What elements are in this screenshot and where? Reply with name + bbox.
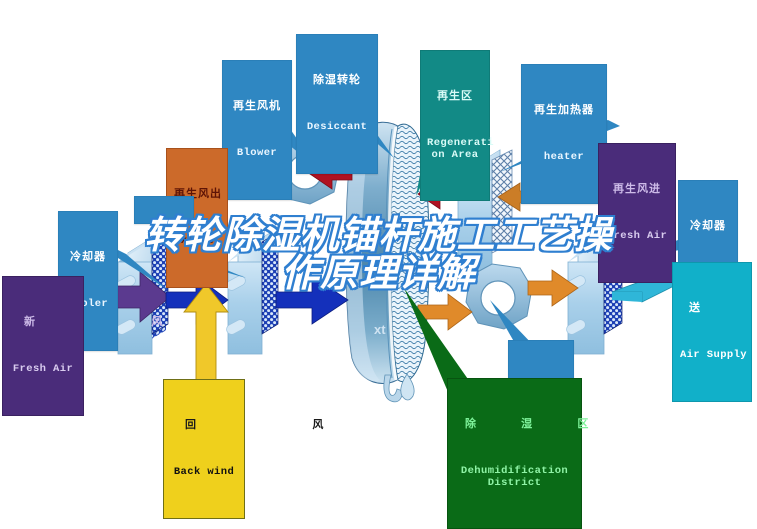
label-back-wind-en: Back wind: [171, 467, 237, 479]
label-dehumid-district[interactable]: 除 湿 区 Dehumidification District: [447, 378, 582, 529]
label-dehumid-district-cn: 除 湿 区: [456, 418, 573, 430]
label-cooler-right-cn: 冷却器: [685, 220, 731, 232]
label-regen-heater-cn: 再生加热器: [528, 104, 600, 116]
label-fresh-air-in-en: Fresh Air: [10, 364, 76, 376]
label-regen-area-en: Regenerati on Area: [427, 138, 483, 162]
label-regen-heater-en: heater: [528, 152, 600, 164]
label-regen-fresh-air-in[interactable]: 再生风进 Fresh Air: [598, 143, 676, 283]
label-regen-blower-cn: 再生风机: [229, 100, 285, 112]
process-blower-unit: [466, 264, 532, 329]
label-regen-area-cn: 再生区: [427, 90, 483, 102]
label-dehumid-district-en: Dehumidification District: [456, 466, 573, 490]
label-air-supply-en: Air Supply: [680, 350, 744, 362]
label-cooler-left-outer-cn: 冷却器: [65, 251, 111, 263]
label-fresh-air-in-cn: 新 风: [10, 316, 76, 328]
process-air-flow-2: [276, 276, 348, 324]
label-regen-exhaust-en: Exhaust: [174, 236, 220, 248]
label-back-wind[interactable]: 回 风 Back wind: [163, 379, 245, 519]
label-desiccant-rotor-cn: 除湿转轮: [303, 74, 371, 86]
label-desiccant-rotor-en: Desiccant: [303, 122, 371, 134]
label-cooler-left-inner[interactable]: 冷却器 Cooler: [134, 196, 194, 224]
label-regen-blower-en: Blower: [229, 148, 285, 160]
label-back-wind-cn: 回 风: [171, 419, 237, 431]
label-regen-fresh-air-in-en: Fresh Air: [606, 231, 668, 243]
label-regen-fresh-air-in-cn: 再生风进: [606, 183, 668, 195]
cooler-unit-2: [225, 232, 278, 354]
diagram-canvas: xt 除湿转轮 Desiccant 再生风机 Blower 再生区 Regene…: [0, 0, 757, 488]
label-regen-blower[interactable]: 再生风机 Blower: [222, 60, 292, 200]
label-desiccant-rotor[interactable]: 除湿转轮 Desiccant: [296, 34, 378, 174]
label-air-supply-cn: 送 风: [680, 302, 744, 314]
label-fresh-air-in[interactable]: 新 风 Fresh Air: [2, 276, 84, 416]
label-regen-heater[interactable]: 再生加热器 heater: [521, 64, 607, 204]
label-regen-area[interactable]: 再生区 Regenerati on Area: [420, 50, 490, 201]
label-air-supply[interactable]: 送 风 Air Supply: [672, 262, 752, 402]
